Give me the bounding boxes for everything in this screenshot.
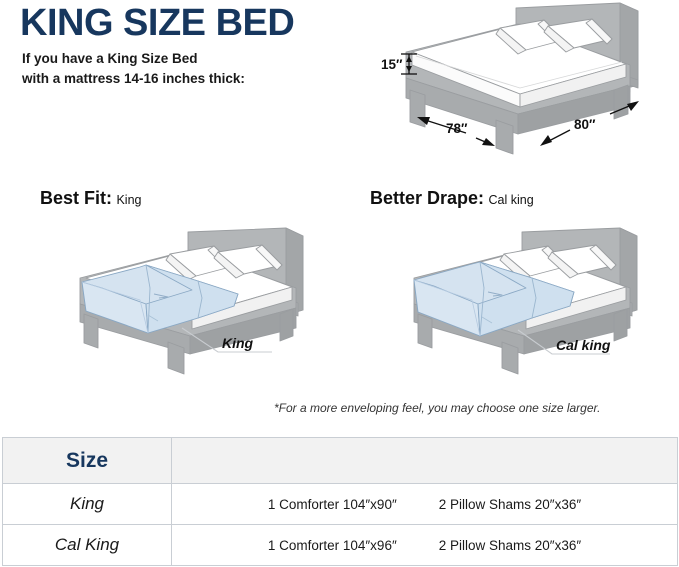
page-title: KING SIZE BED (20, 4, 294, 44)
dimension-height-label: 15″ (381, 57, 403, 72)
best-fit-lead: Best Fit: (40, 188, 112, 208)
king-shams-spec: 2 Pillow Shams 20″x36″ (439, 497, 581, 512)
row-items-cal-king: 1 Comforter 104″x96″ 2 Pillow Shams 20″x… (172, 525, 678, 566)
best-fit-bed-illustration: King (22, 218, 342, 393)
best-fit-caption: Best Fit: King (40, 188, 141, 209)
better-drape-bed-illustration: Cal king (352, 218, 677, 393)
table-row: King 1 Comforter 104″x90″ 2 Pillow Shams… (3, 484, 678, 525)
better-drape-lead: Better Drape: (370, 188, 484, 208)
infographic-page: KING SIZE BED If you have a King Size Be… (0, 0, 679, 567)
better-drape-caption: Better Drape: Cal king (370, 188, 534, 209)
size-table: Size King 1 Comforter 104″x90″ 2 Pillow … (2, 437, 678, 566)
subtitle-line-1: If you have a King Size Bed (22, 49, 245, 69)
table-row: Cal King 1 Comforter 104″x96″ 2 Pillow S… (3, 525, 678, 566)
row-size-king: King (3, 484, 172, 525)
comforter-label-king: King (222, 335, 254, 351)
table-header-size: Size (3, 438, 172, 484)
bed-dimensions-illustration: 15″ 78″ 80″ (368, 2, 679, 167)
king-comforter-spec: 1 Comforter 104″x90″ (268, 497, 397, 512)
dimension-width-label: 78″ (446, 121, 468, 136)
row-items-king: 1 Comforter 104″x90″ 2 Pillow Shams 20″x… (172, 484, 678, 525)
dimension-length-label: 80″ (574, 117, 596, 132)
cal-king-shams-spec: 2 Pillow Shams 20″x36″ (439, 538, 581, 553)
comforter-label-cal-king: Cal king (556, 337, 611, 353)
footnote: *For a more enveloping feel, you may cho… (274, 401, 600, 415)
subtitle-line-2: with a mattress 14-16 inches thick: (22, 69, 245, 89)
page-subtitle: If you have a King Size Bed with a mattr… (22, 49, 245, 88)
row-size-cal-king: Cal King (3, 525, 172, 566)
best-fit-size: King (116, 193, 141, 207)
table-header-row: Size (3, 438, 678, 484)
better-drape-size: Cal king (488, 193, 533, 207)
cal-king-comforter-spec: 1 Comforter 104″x96″ (268, 538, 397, 553)
table-header-items (172, 438, 678, 484)
